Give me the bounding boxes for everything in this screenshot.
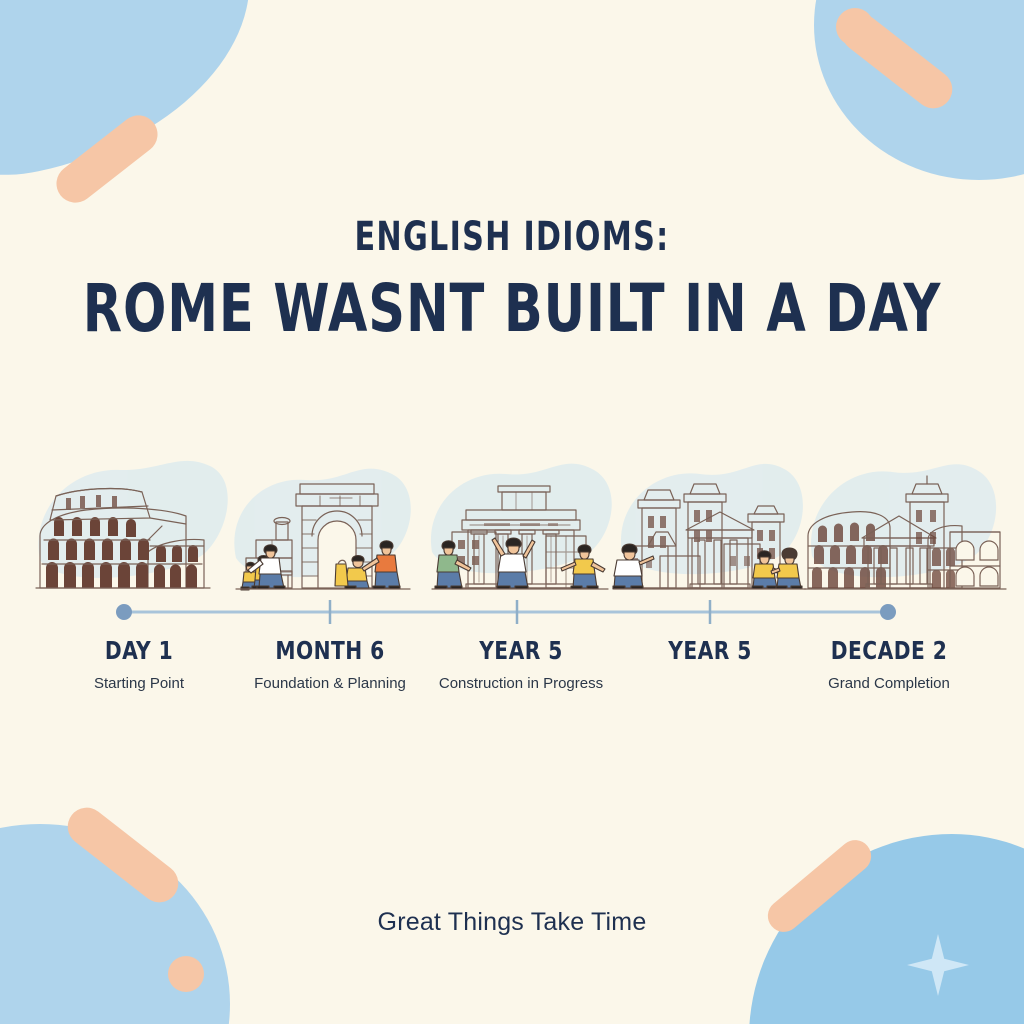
illustration-strip: .ln{fill:none;stroke:#7A6257;stroke-widt…	[0, 440, 1024, 615]
milestone-title: MONTH 6	[262, 636, 399, 665]
milestone-subtitle: Grand Completion	[824, 675, 953, 692]
infographic-canvas: ENGLISH IDIOMS: ROME WASNT BUILT IN A DA…	[0, 0, 1024, 1024]
milestone-title: YEAR 5	[668, 636, 752, 665]
milestone-month-6[interactable]: MONTH 6 Foundation & Planning	[254, 636, 406, 692]
milestone-labels: DAY 1 Starting Point MONTH 6 Foundation …	[0, 636, 1024, 706]
blob-top-right-decor	[814, 0, 1024, 180]
dot-top-right-decor	[836, 8, 874, 46]
milestone-day-1[interactable]: DAY 1 Starting Point	[94, 636, 184, 692]
timeline-end-dot	[880, 604, 896, 620]
timeline-track	[0, 600, 1024, 624]
title-block: ENGLISH IDIOMS: ROME WASNT BUILT IN A DA…	[0, 216, 1024, 343]
milestone-title: DAY 1	[98, 636, 179, 665]
milestone-title: YEAR 5	[447, 636, 595, 665]
milestone-subtitle: Foundation & Planning	[254, 675, 406, 692]
blob-top-left-decor	[0, 0, 281, 203]
sparkle-icon	[907, 934, 969, 996]
dot-bottom-left-decor	[168, 956, 204, 992]
milestone-title: DECADE 2	[831, 636, 948, 665]
capsule-top-left-decor	[49, 108, 165, 211]
milestone-decade-2[interactable]: DECADE 2 Grand Completion	[824, 636, 953, 692]
milestone-subtitle: Construction in Progress	[439, 675, 603, 692]
footer-tagline: Great Things Take Time	[0, 908, 1024, 937]
milestone-subtitle: Starting Point	[94, 675, 184, 692]
milestone-year-5-b[interactable]: YEAR 5	[664, 636, 757, 675]
page-title: ROME WASNT BUILT IN A DAY	[72, 274, 953, 343]
milestone-year-5-a[interactable]: YEAR 5 Construction in Progress	[439, 636, 603, 692]
capsule-bottom-left-decor	[60, 800, 186, 910]
timeline-start-dot	[116, 604, 132, 620]
capsule-top-right-decor	[834, 6, 960, 116]
eyebrow-text: ENGLISH IDIOMS:	[82, 216, 942, 258]
